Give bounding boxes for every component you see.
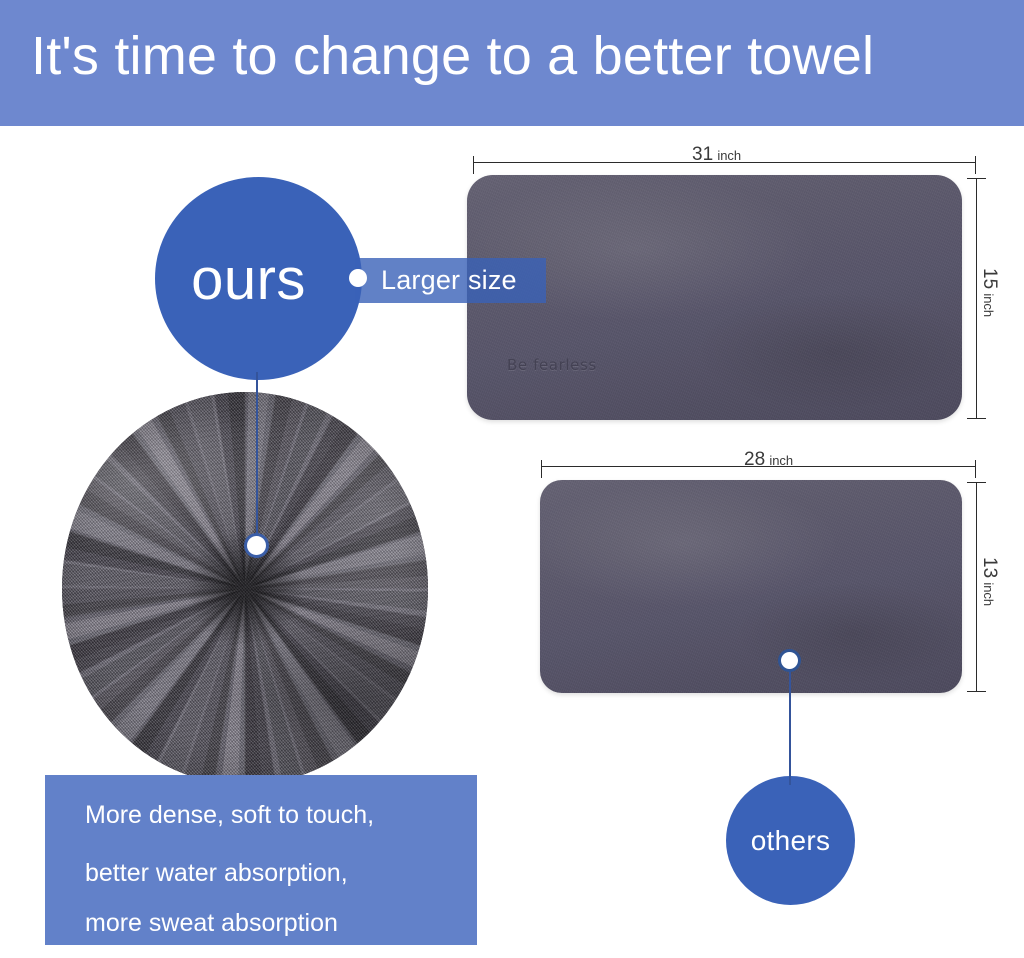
ours-height-tick-top (967, 178, 986, 179)
ours-height-tick-bottom (967, 418, 986, 419)
larger-size-tag: Larger size (355, 258, 546, 303)
feature-line: more sweat absorption (85, 911, 338, 936)
ours-width-label: 31 inch (692, 144, 741, 166)
others-width-unit: inch (769, 453, 793, 468)
others-width-tick-left (541, 460, 542, 478)
fabric-callout-dot-icon (247, 536, 266, 555)
ours-height-unit: inch (981, 293, 996, 317)
ours-height-label: 15 inch (978, 268, 1000, 317)
others-height-dimension-line (976, 482, 977, 691)
ours-connector-line (256, 372, 258, 544)
others-connector-line (789, 661, 791, 785)
ours-badge-label: ours (191, 251, 306, 309)
fabric-closeup-photo (62, 392, 428, 785)
others-width-tick-right (975, 460, 976, 478)
others-height-tick-top (967, 482, 986, 483)
larger-size-label: Larger size (381, 267, 517, 294)
towel-brand-embroidery: Be fearless (507, 356, 597, 374)
others-height-tick-bottom (967, 691, 986, 692)
feature-panel: More dense, soft to touch, better water … (45, 775, 477, 945)
ours-width-tick-right (975, 156, 976, 174)
others-badge-label: others (751, 827, 831, 855)
others-height-unit: inch (981, 582, 996, 606)
ours-height-dimension-line (976, 178, 977, 418)
others-towel-image (540, 480, 962, 693)
infographic-root: It's time to change to a better towel 31… (0, 0, 1024, 958)
fabric-shading-layer (62, 392, 428, 785)
ours-badge: ours (155, 177, 362, 380)
others-height-value: 13 (979, 557, 1000, 578)
page-title: It's time to change to a better towel (31, 23, 874, 89)
ours-width-tick-left (473, 156, 474, 174)
others-height-label: 13 inch (978, 557, 1000, 606)
feature-line: More dense, soft to touch, (85, 803, 374, 828)
feature-line: better water absorption, (85, 861, 348, 886)
ours-callout-dot-icon (349, 269, 367, 287)
others-width-value: 28 (744, 449, 765, 470)
ours-width-value: 31 (692, 144, 713, 165)
others-callout-dot-icon (781, 652, 798, 669)
others-badge: others (726, 776, 855, 905)
others-width-label: 28 inch (744, 449, 793, 471)
header-banner: It's time to change to a better towel (0, 0, 1024, 126)
ours-width-unit: inch (717, 148, 741, 163)
ours-height-value: 15 (979, 268, 1000, 289)
